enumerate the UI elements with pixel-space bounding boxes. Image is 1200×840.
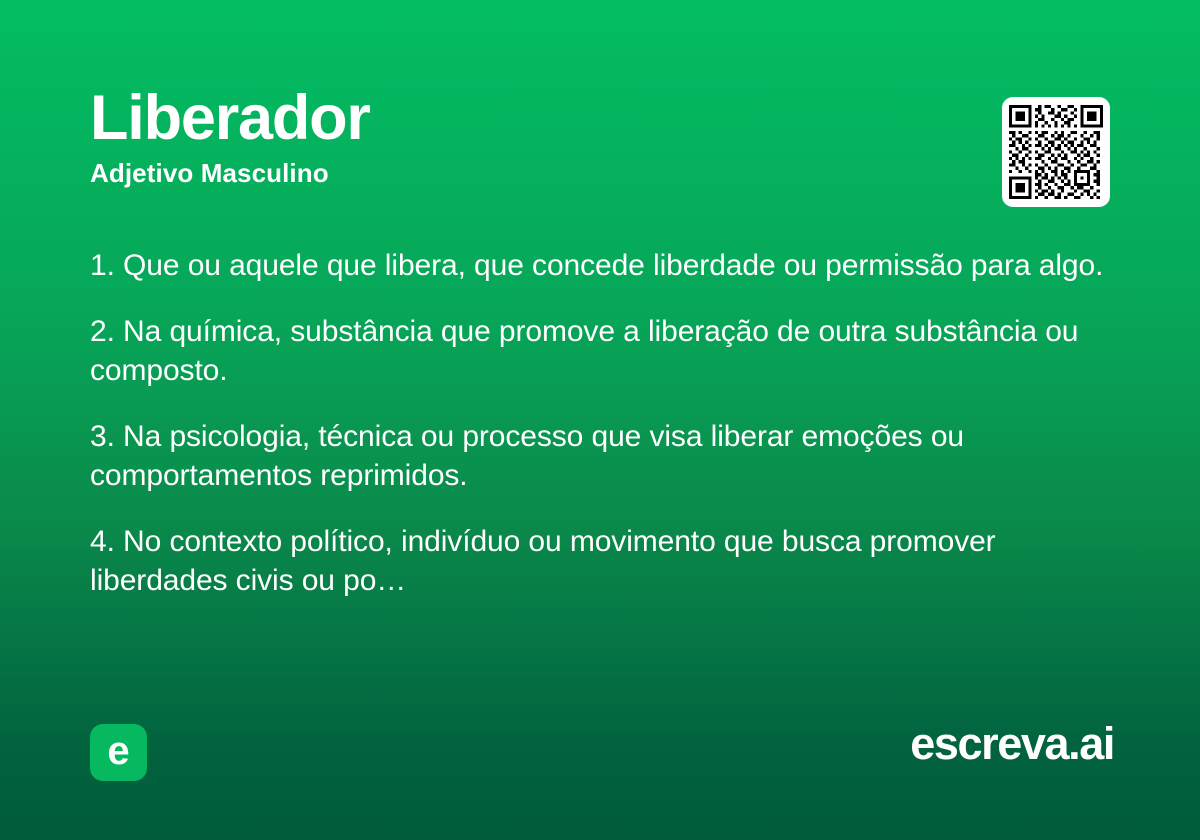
definition-item: 2. Na química, substância que promove a … — [90, 312, 1112, 390]
definition-item: 4. No contexto político, indivíduo ou mo… — [90, 522, 1112, 600]
definition-list: 1. Que ou aquele que libera, que concede… — [90, 246, 1112, 600]
escreva-logo-badge: e — [90, 724, 147, 781]
card-header: Liberador Adjetivo Masculino — [90, 86, 1110, 189]
page-title: Liberador — [90, 86, 1110, 152]
word-class-subtitle: Adjetivo Masculino — [90, 158, 1110, 189]
logo-letter-e: e — [107, 731, 129, 771]
definition-item: 1. Que ou aquele que libera, que concede… — [90, 246, 1112, 285]
brand-wordmark: escreva.ai — [910, 719, 1114, 769]
qr-code-panel[interactable] — [1002, 97, 1110, 207]
definition-item: 3. Na psicologia, técnica ou processo qu… — [90, 417, 1112, 495]
qr-code-icon — [1009, 104, 1103, 200]
dictionary-card: Liberador Adjetivo Masculino — [0, 0, 1200, 840]
